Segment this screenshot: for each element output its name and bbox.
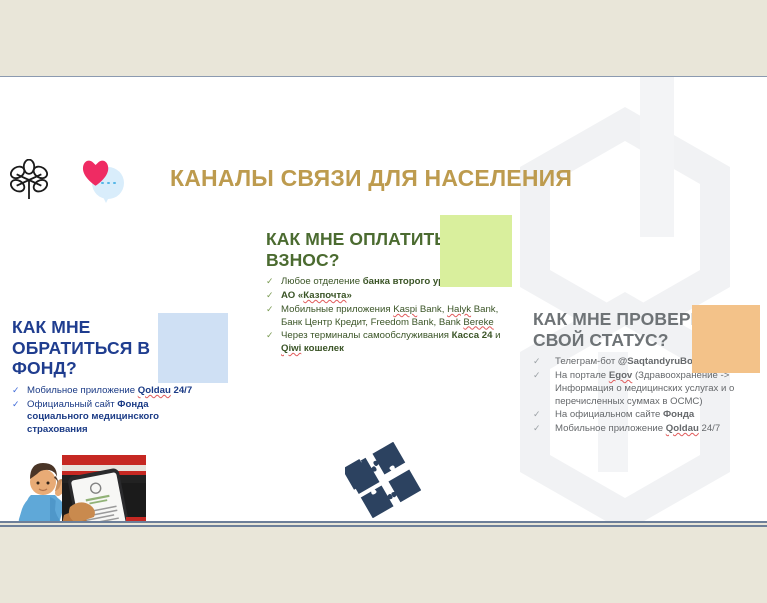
list-item-text: 24/7 xyxy=(699,423,720,434)
slide-viewer: КАНАЛЫ СВЯЗИ ДЛЯ НАСЕЛЕНИЯ КАК МНЕ ОПЛАТ… xyxy=(0,0,767,603)
list-item: ✓Мобильное приложение Qoldau 24/7 xyxy=(12,385,212,398)
list-item-text: кошелек xyxy=(301,343,344,354)
list-item-text: Egov xyxy=(609,370,632,381)
list-item: ✓Мобильное приложение Qoldau 24/7 xyxy=(533,423,759,436)
check-icon: ✓ xyxy=(12,399,20,411)
check-icon: ✓ xyxy=(266,330,274,342)
heart-speech-bubble-icon xyxy=(68,157,130,205)
list-item-text: Halyk xyxy=(447,304,471,315)
list-item-text: Qiwi xyxy=(281,343,301,354)
check-icon: ✓ xyxy=(533,409,541,421)
list-item-text: Мобильное приложение xyxy=(555,423,666,434)
qr-matrix xyxy=(443,218,509,284)
list-item-text: Касса 24 xyxy=(452,330,493,341)
list-item: ✓Официальный сайт Фонда социального меди… xyxy=(12,399,212,437)
list-item: ✓Через терминалы самообслуживания Касса … xyxy=(266,330,514,356)
list-item-text: Телеграм-бот xyxy=(555,356,618,367)
list-item-text: Через терминалы самообслуживания xyxy=(281,330,452,341)
list-item-text: Мобильное приложение xyxy=(27,385,138,396)
presentation-slide: КАНАЛЫ СВЯЗИ ДЛЯ НАСЕЛЕНИЯ КАК МНЕ ОПЛАТ… xyxy=(0,76,767,523)
check-icon: ✓ xyxy=(266,276,274,288)
list-item-text: 24/7 xyxy=(171,385,192,396)
list-item-text: Фонда xyxy=(663,409,694,420)
list-item-text: На официальном сайте xyxy=(555,409,663,420)
list-item: ✓Мобильные приложения Kaspi Bank, Halyk … xyxy=(266,304,514,330)
qr-matrix xyxy=(161,316,225,380)
watermark-hexagon-upper-inner xyxy=(550,141,700,313)
flower-logo-icon xyxy=(10,159,48,201)
list-item-text: Bereke xyxy=(463,317,493,328)
qr-code-pay[interactable] xyxy=(440,215,512,287)
list-item-text: Казпочта xyxy=(303,290,346,301)
list-item-text: Qoldau xyxy=(138,385,171,396)
check-icon: ✓ xyxy=(266,304,274,316)
list-item-text: Kaspi xyxy=(393,304,417,315)
list-item: ✓На официальном сайте Фонда xyxy=(533,409,759,422)
check-icon: ✓ xyxy=(533,423,541,435)
page-title: КАНАЛЫ СВЯЗИ ДЛЯ НАСЕЛЕНИЯ xyxy=(170,165,572,192)
list-item-text: На портале xyxy=(555,370,609,381)
list-item-text: Любое отделение xyxy=(281,276,363,287)
check-icon: ✓ xyxy=(533,356,541,368)
check-icon: ✓ xyxy=(12,385,20,397)
puzzle-pieces-icon xyxy=(345,442,421,518)
list-item-text: » xyxy=(346,290,351,301)
watermark-bar-right xyxy=(640,77,674,237)
qr-matrix xyxy=(695,308,757,370)
check-icon: ✓ xyxy=(533,370,541,382)
list-item: ✓АО «Казпочта» xyxy=(266,290,514,303)
block-pay-list: ✓Любое отделение банка второго уровня✓АО… xyxy=(266,276,514,356)
slide-bottom-border xyxy=(0,523,767,527)
list-item-text: Мобильные приложения xyxy=(281,304,393,315)
list-item-text: Bank, xyxy=(417,304,447,315)
list-item-text: АО « xyxy=(281,290,303,301)
block-fund-list: ✓Мобильное приложение Qoldau 24/7✓Официа… xyxy=(12,385,212,437)
qr-code-fund[interactable] xyxy=(158,313,228,383)
list-item: ✓На портале Egov (Здравоохранение -> Инф… xyxy=(533,370,759,408)
list-item-text: @SaqtandyruBot xyxy=(618,356,696,367)
hand-holding-phone-photo xyxy=(62,455,146,523)
check-icon: ✓ xyxy=(266,290,274,302)
list-item-text: и xyxy=(492,330,500,341)
list-item-text: Официальный сайт xyxy=(27,399,117,410)
qr-code-status[interactable] xyxy=(692,305,760,373)
list-item-text: Qoldau xyxy=(666,423,699,434)
